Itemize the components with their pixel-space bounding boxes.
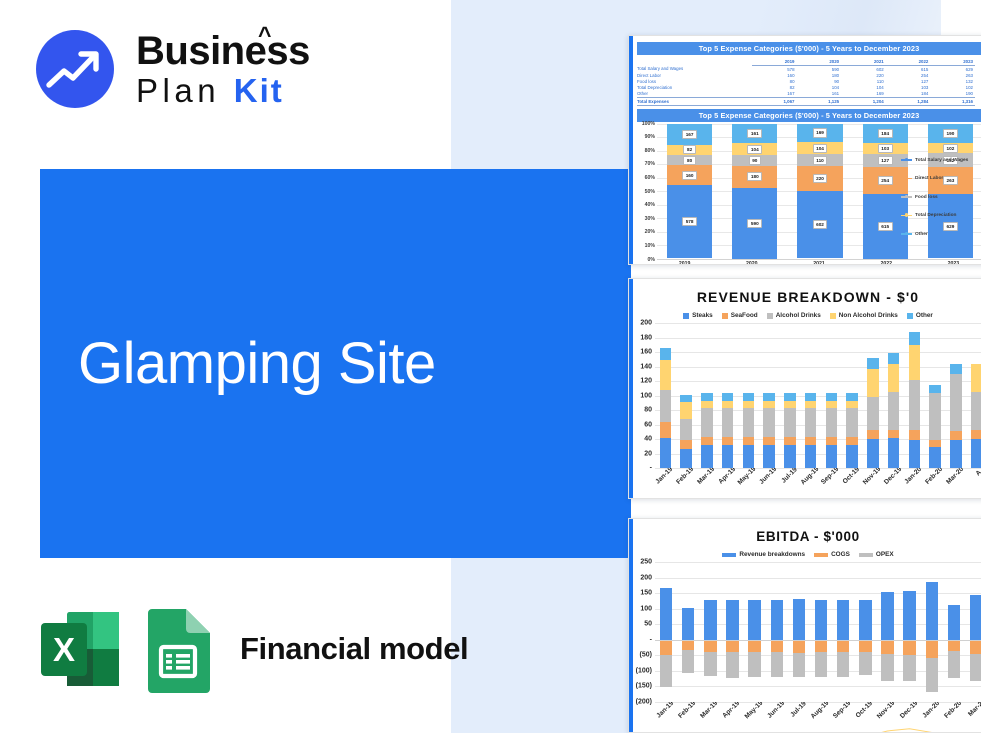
x-tick-label: 2019: [651, 261, 718, 265]
bar-value-label: 169: [813, 128, 828, 137]
y-tick-label: (100): [636, 667, 652, 674]
table-cell: 615: [886, 66, 931, 73]
bar-segment: 90: [732, 155, 777, 166]
bar-segment: [929, 440, 941, 447]
x-tick: Oct-19: [842, 468, 863, 499]
x-tick-label: Dec-19: [899, 702, 919, 720]
bar-segment: [888, 353, 900, 363]
table-cell: 1,204: [841, 97, 886, 105]
x-tick-label: 2023: [920, 261, 981, 265]
legend-swatch: [767, 313, 773, 319]
x-tick: Mar-19: [699, 702, 721, 733]
y-tick-label: 200: [640, 320, 652, 327]
x-tick-label: Jan-20: [921, 702, 941, 720]
bar-segment: [950, 440, 962, 468]
bar-value-label: 167: [682, 130, 697, 139]
bar-segment: [680, 402, 692, 419]
x-tick: Aug-19: [800, 468, 821, 499]
x-tick: Dec-19: [899, 702, 921, 733]
table-cell: 1,125: [797, 97, 842, 105]
legend-label: SeaFood: [731, 312, 758, 319]
bar-value-label: 220: [813, 174, 828, 183]
x-tick: Nov-19: [876, 702, 898, 733]
bar-segment: [909, 440, 921, 468]
bar-segment: [826, 393, 838, 402]
table-total-row: Total Expenses1,0671,1251,2041,2841,316: [637, 97, 975, 105]
x-tick-label: Sep-19: [820, 468, 840, 486]
bar-segment: [805, 393, 817, 402]
x-tick: Jun-19: [759, 468, 780, 499]
bar-segment: [660, 390, 672, 423]
bar-slot: [676, 323, 697, 468]
x-tick-label: Feb-19: [675, 468, 695, 486]
legend-marker: [901, 159, 912, 161]
legend-marker: [901, 196, 912, 198]
bar-segment: [784, 393, 796, 402]
table-cell: 1,284: [886, 97, 931, 105]
legend-item[interactable]: SeaFood: [722, 312, 758, 319]
x-tick: Jul-19: [788, 702, 810, 733]
x-tick-label: Feb-20: [943, 702, 963, 720]
bar-segment: [763, 408, 775, 437]
bar-segment: [805, 437, 817, 445]
bar-segment: [909, 380, 921, 431]
x-tick: Mar-20: [946, 468, 967, 499]
y-tick-label: 80%: [645, 148, 655, 154]
y-tick-label: 70%: [645, 161, 655, 167]
table-cell: 161: [797, 91, 842, 98]
y-tick-label: (200): [636, 699, 652, 706]
bar-slot: [738, 323, 759, 468]
bar-value-label: 190: [943, 129, 958, 138]
y-tick-label: 90%: [645, 134, 655, 140]
slide-canvas: Glamping Site Business ^ Plan Kit: [0, 0, 981, 733]
table-cell: 169: [841, 91, 886, 98]
bar-segment: [722, 445, 734, 468]
bar-segment: 180: [732, 166, 777, 188]
x-tick-label: Aug-19: [810, 702, 831, 720]
bar-slot: [697, 323, 718, 468]
legend-swatch: [830, 313, 836, 319]
bar-segment: [888, 430, 900, 439]
y-tick-label: 60%: [645, 175, 655, 181]
bar-positive: [929, 385, 941, 468]
bar-segment: [846, 393, 858, 402]
bar-segment: [722, 393, 734, 402]
bar-value-label: 602: [813, 220, 828, 229]
x-tick: Feb-20: [925, 468, 946, 499]
bar-segment: 103: [863, 143, 908, 154]
bar-segment: 80: [667, 155, 712, 165]
x-tick: Jan-20: [904, 468, 925, 499]
x-tick-label: 2022: [853, 261, 920, 265]
bar-segment: [660, 360, 672, 390]
legend-swatch: [722, 313, 728, 319]
revenue-breakdown-card[interactable]: REVENUE BREAKDOWN - $'0 SteaksSeaFoodAlc…: [628, 278, 981, 499]
bar-segment: [680, 395, 692, 402]
y-tick-label: 150: [640, 590, 652, 597]
bar-segment: [743, 408, 755, 437]
x-tick-label: Jan-19: [655, 702, 675, 720]
legend-swatch: [859, 553, 873, 557]
legend-item[interactable]: Other: [901, 232, 979, 237]
x-tick-label: Nov-19: [862, 468, 883, 486]
y-tick-label: -: [650, 636, 652, 643]
bar-positive: [867, 358, 879, 468]
bar-segment: [680, 419, 692, 440]
y-tick-label: 250: [640, 559, 652, 566]
legend-swatch: [722, 553, 736, 557]
bar-value-label: 103: [878, 144, 893, 153]
legend-item[interactable]: Steaks: [683, 312, 713, 319]
bar-segment: [743, 393, 755, 402]
bar-segment: [867, 369, 879, 397]
bar-segment: [846, 445, 858, 468]
x-tick: Aug-19: [810, 702, 832, 733]
bar-segment: [680, 449, 692, 468]
x-tick-label: Jul-19: [780, 468, 798, 485]
ebitda-plot-area: [655, 562, 981, 702]
bar-value-label: 82: [683, 145, 695, 154]
x-tick-label: 2021: [785, 261, 852, 265]
table-row-label: Total Expenses: [637, 97, 752, 105]
bar-segment: [743, 437, 755, 445]
brand-line-2-accent: Kit: [234, 72, 284, 109]
bar-positive: [805, 393, 817, 468]
bar-slot: [842, 323, 863, 468]
bar-segment: [784, 445, 796, 468]
bar-segment: [701, 445, 713, 468]
google-sheets-icon: [142, 605, 214, 693]
bar-segment: 82: [667, 145, 712, 155]
legend-item[interactable]: Non Alcohol Drinks: [830, 312, 898, 319]
y-tick-label: 30%: [645, 216, 655, 222]
bar-segment: [763, 393, 775, 402]
bar-positive: [763, 393, 775, 468]
legend-label: Food loss: [915, 195, 938, 200]
bar-positive: [701, 393, 713, 468]
bar-value-label: 102: [943, 144, 958, 153]
bar-segment: 184: [863, 124, 908, 143]
y-tick-label: 180: [640, 334, 652, 341]
bar-segment: [867, 358, 879, 369]
bar-segment: [950, 374, 962, 431]
x-tick: Jun-19: [766, 702, 788, 733]
y-tick-label: 140: [640, 363, 652, 370]
x-tick-label: Jan-19: [655, 468, 674, 486]
x-tick: A: [966, 468, 981, 499]
y-tick-label: 160: [640, 349, 652, 356]
bar-segment: [971, 439, 981, 468]
bar-segment: [929, 385, 941, 393]
legend-item[interactable]: Total Depreciation: [901, 213, 979, 218]
bar-segment: [680, 440, 692, 449]
legend-label: Total Depreciation: [915, 213, 957, 218]
legend-swatch: [683, 313, 689, 319]
bar-value-label: 104: [747, 145, 762, 154]
x-tick-label: Feb-19: [677, 702, 697, 720]
y-tick-label: (150): [636, 683, 652, 690]
x-tick: Mar-2: [965, 702, 981, 733]
x-tick: Mar-19: [697, 468, 718, 499]
microsoft-excel-icon: X: [36, 605, 124, 693]
bar-segment: [805, 408, 817, 437]
y-tick-label: 100: [640, 392, 652, 399]
bar-positive: [680, 395, 692, 468]
bar-segment: 161: [732, 124, 777, 143]
bar-slot: [780, 323, 801, 468]
legend-item[interactable]: Revenue breakdowns: [722, 551, 805, 558]
bar-positive: [888, 353, 900, 468]
bar-segment: [660, 422, 672, 437]
legend-marker: [901, 178, 912, 180]
chart-y-axis: 0%10%20%30%40%50%60%70%80%90%100%: [635, 124, 657, 260]
legend-marker: [901, 215, 912, 217]
x-tick: Oct-19: [854, 702, 876, 733]
bar-segment: [971, 392, 981, 430]
x-tick-label: A: [974, 469, 981, 477]
bar-segment: 169: [797, 124, 842, 143]
y-tick-label: 200: [640, 574, 652, 581]
ebitda-x-axis: Jan-19Feb-19Mar-19Apr-19May-19Jun-19Jul-…: [655, 702, 981, 733]
bar-positive: [784, 393, 796, 468]
x-tick-label: May-19: [743, 702, 764, 720]
legend-label: Revenue breakdowns: [739, 551, 805, 558]
bar-stack: 1678280160578: [667, 124, 712, 259]
bar-segment: [846, 408, 858, 437]
bar-segment: [763, 437, 775, 445]
legend-item[interactable]: Alcohol Drinks: [767, 312, 821, 319]
x-tick-label: Nov-19: [876, 702, 897, 720]
bar-segment: [660, 438, 672, 468]
expense-categories-card[interactable]: Top 5 Expense Categories ($'000) - 5 Yea…: [628, 35, 981, 265]
bar-positive: [743, 393, 755, 468]
bar-segment: [929, 447, 941, 468]
x-tick: Jan-20: [921, 702, 943, 733]
bar-value-label: 184: [878, 129, 893, 138]
table-cell: 184: [886, 91, 931, 98]
y-tick-label: 50: [644, 621, 652, 628]
bar-positive: [826, 393, 838, 468]
bar-segment: [763, 445, 775, 468]
ebitda-y-axis: (200)(150)(100)(50)-50100150200250: [629, 562, 655, 702]
bar-stack: 169104110220602: [797, 124, 842, 259]
ebitda-chart-legend: Revenue breakdownsCOGSOPEX: [629, 551, 981, 558]
bar-segment: 190: [928, 124, 973, 143]
bar-segment: [743, 445, 755, 468]
bar-segment: [722, 408, 734, 437]
bar-segment: [971, 364, 981, 392]
bar-stack: 16110490180590: [732, 124, 777, 259]
bar-positive: [909, 332, 921, 468]
ebitda-card[interactable]: EBITDA - $'000 Revenue breakdownsCOGSOPE…: [628, 518, 981, 733]
x-tick: Dec-19: [883, 468, 904, 499]
bar-segment: [971, 430, 981, 439]
bar-segment: [826, 445, 838, 468]
y-tick-label: 120: [640, 378, 652, 385]
legend-label: Steaks: [692, 312, 713, 319]
svg-text:X: X: [53, 631, 75, 668]
bar-value-label: 578: [682, 217, 697, 226]
x-tick: Jan-19: [655, 468, 676, 499]
bar-value-label: 110: [813, 156, 828, 165]
legend-swatch: [814, 553, 828, 557]
table-row-label: Other: [637, 91, 752, 98]
x-tick: Feb-19: [676, 468, 697, 499]
bar-segment: 102: [928, 143, 973, 153]
x-tick-label: Mar-2: [967, 702, 981, 718]
table-cell: 578: [752, 66, 797, 73]
legend-label: Other: [915, 232, 928, 237]
table-cell: 590: [797, 66, 842, 73]
legend-item[interactable]: Food loss: [901, 195, 979, 200]
bar-value-label: 161: [747, 129, 762, 138]
bar-segment: 578: [667, 185, 712, 258]
brand-line-1: Business ^: [136, 31, 310, 71]
bar-value-label: 615: [878, 222, 893, 231]
bar-segment: [826, 437, 838, 445]
legend-item[interactable]: COGS: [814, 551, 850, 558]
chart-x-axis: 20192020202120222023: [651, 261, 981, 265]
bar-slot: [946, 323, 967, 468]
y-tick-label: 50%: [645, 189, 655, 195]
bar-segment: 110: [797, 154, 842, 166]
bar-segment: 104: [732, 143, 777, 155]
brand-line-2-text: Plan: [136, 72, 220, 109]
bar-value-label: 590: [747, 219, 762, 228]
ebitda-chart-title: EBITDA - $'000: [629, 529, 981, 544]
bar-column: 1678280160578: [657, 124, 722, 259]
bar-segment: [867, 397, 879, 430]
x-tick-label: Jun-19: [766, 702, 786, 720]
bar-slot: [904, 323, 925, 468]
y-tick-label: -: [650, 465, 652, 472]
x-tick-label: Feb-20: [924, 468, 944, 486]
revenue-chart-title: REVENUE BREAKDOWN - $'0: [629, 289, 981, 305]
x-tick-label: Jul-19: [789, 702, 807, 719]
bar-column: 169104110220602: [787, 124, 852, 259]
bar-segment: 590: [732, 188, 777, 259]
y-tick-label: 100: [640, 605, 652, 612]
y-tick-label: 100%: [642, 121, 655, 127]
bar-value-label: 254: [878, 176, 893, 185]
revenue-plot-area: [655, 323, 981, 468]
brand-line-2: Plan Kit: [136, 74, 310, 107]
bar-segment: 160: [667, 165, 712, 185]
bar-positive: [660, 348, 672, 468]
bar-segment: [950, 364, 962, 374]
legend-label: Total Salary and Wages: [915, 158, 968, 163]
bar-positive: [971, 364, 981, 468]
x-tick-label: Oct-19: [855, 702, 874, 719]
circumflex-accent-icon: ^: [258, 24, 271, 47]
x-tick: Nov-19: [863, 468, 884, 499]
table-row: Total Salary and Wages578590602615629: [637, 66, 975, 73]
bar-segment: [701, 437, 713, 445]
table-cell: 190: [930, 91, 975, 98]
bar-positive: [950, 364, 962, 468]
y-tick-label: (50): [640, 652, 652, 659]
x-tick: Jan-19: [655, 702, 677, 733]
legend-item[interactable]: Total Salary and Wages: [901, 158, 979, 163]
revenue-y-axis: -20406080100120140160180200: [629, 323, 655, 468]
bar-segment: [867, 439, 879, 468]
bar-segment: [701, 393, 713, 402]
x-tick: May-19: [738, 468, 759, 499]
bar-value-label: 90: [749, 156, 761, 165]
trending-up-arrow-circle-icon: [36, 30, 114, 108]
bar-slot: [925, 323, 946, 468]
x-tick-label: Aug-19: [799, 468, 820, 486]
bar-segment: [909, 430, 921, 439]
bar-segment: [805, 445, 817, 468]
y-tick-label: 20: [644, 450, 652, 457]
bar-slot: [863, 323, 884, 468]
table-row: Other167161169184190: [637, 91, 975, 98]
table-row-label: Total Salary and Wages: [637, 66, 752, 73]
x-tick-label: Jun-19: [758, 468, 778, 486]
y-tick-label: 60: [644, 421, 652, 428]
bar-segment: [722, 437, 734, 445]
bar-segment: [909, 332, 921, 345]
x-tick-label: Mar-20: [945, 468, 965, 486]
bar-segment: 167: [667, 124, 712, 145]
x-tick-label: Mar-19: [700, 702, 720, 720]
x-tick-label: Jan-20: [904, 468, 924, 486]
y-tick-label: 80: [644, 407, 652, 414]
legend-item[interactable]: Direct Labor: [901, 176, 979, 181]
expense-table: 20192020202120222023 Total Salary and Wa…: [637, 59, 975, 106]
y-tick-label: 0%: [648, 257, 656, 263]
bar-value-label: 127: [878, 156, 893, 165]
bar-value-label: 104: [813, 144, 828, 153]
bar-segment: [826, 408, 838, 437]
x-tick-label: Sep-19: [832, 702, 852, 720]
bar-slot: [717, 323, 738, 468]
legend-item[interactable]: OPEX: [859, 551, 894, 558]
legend-label: OPEX: [876, 551, 894, 558]
bar-slot: [883, 323, 904, 468]
bar-segment: [929, 393, 941, 439]
bar-segment: 602: [797, 191, 842, 258]
x-tick-label: Apr-19: [722, 702, 742, 720]
bar-segment: [701, 408, 713, 437]
bar-segment: [784, 437, 796, 445]
bar-value-label: 80: [683, 156, 695, 165]
bar-segment: [909, 345, 921, 379]
financial-model-label: Financial model: [240, 631, 468, 667]
legend-marker: [901, 233, 912, 235]
bar-slot: [759, 323, 780, 468]
page-title: Glamping Site: [78, 330, 436, 397]
bar-segment: [784, 408, 796, 437]
bar-segment: [888, 364, 900, 392]
table-cell: 602: [841, 66, 886, 73]
bar-segment: [660, 348, 672, 360]
bar-segment: [888, 392, 900, 430]
legend-label: Direct Labor: [915, 176, 943, 181]
x-tick-label: Mar-19: [696, 468, 716, 486]
chart-legend: Total Salary and WagesDirect LaborFood l…: [901, 158, 979, 251]
table-cell: 629: [930, 66, 975, 73]
x-tick: Sep-19: [821, 468, 842, 499]
y-tick-label: 20%: [645, 229, 655, 235]
x-tick: Apr-19: [717, 468, 738, 499]
table-cell: 1,316: [930, 97, 975, 105]
expense-chart-title: Top 5 Expense Categories ($'000) - 5 Yea…: [637, 109, 981, 122]
expense-table-title: Top 5 Expense Categories ($'000) - 5 Yea…: [637, 42, 981, 55]
legend-item[interactable]: Other: [907, 312, 933, 319]
